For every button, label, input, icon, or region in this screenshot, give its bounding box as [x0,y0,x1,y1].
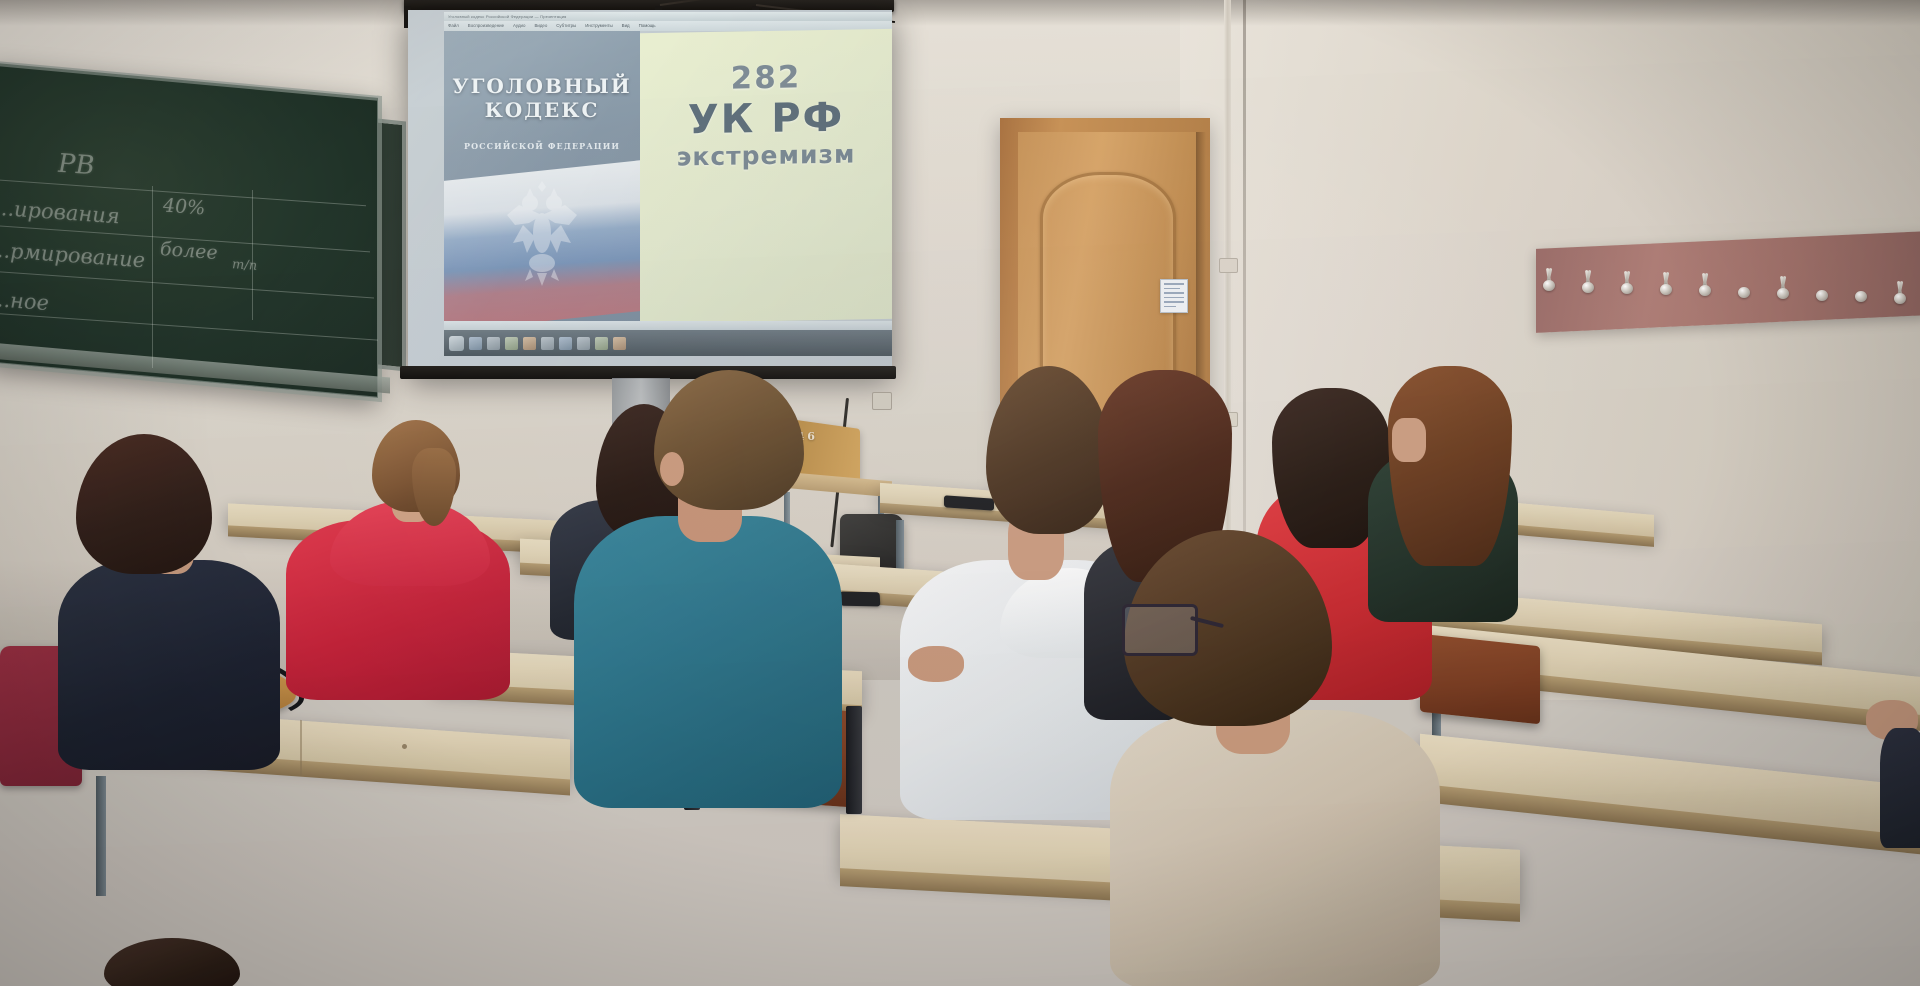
ceiling-shadow [0,0,1920,26]
slide-left-panel: УГОЛОВНЫЙ КОДЕКС РОССИЙСКОЙ ФЕДЕРАЦИИ [444,31,640,321]
os-taskbar[interactable] [444,330,892,356]
coat-hook-6[interactable] [1737,275,1750,299]
app-icon-7[interactable] [577,337,590,350]
criminal-code-title: УГОЛОВНЫЙ КОДЕКС [444,75,640,122]
menu-item-help[interactable]: Помощь [639,23,656,28]
desk-front-left-seam [300,720,302,776]
menu-item-audio[interactable]: Аудио [513,23,525,28]
classroom-photo: РВ ...ирования 40% ...рмирование более .… [0,0,1920,986]
menu-item-video[interactable]: Видео [534,23,547,28]
player-icon[interactable] [505,337,518,350]
desk-front-left-leg [96,776,106,896]
article-number: 282 [731,62,802,94]
student-11-torso [1880,728,1920,848]
presentation-slide: УГОЛОВНЫЙ КОДЕКС РОССИЙСКОЙ ФЕДЕРАЦИИ [444,31,892,321]
topic-label: экстремизм [677,140,856,171]
menu-item-subtitles[interactable]: Субтитры [556,23,576,28]
menu-item-view[interactable]: Вид [622,23,630,28]
desk-screw-1 [402,744,407,749]
coat-hook-7[interactable] [1776,276,1789,300]
app-icon-6[interactable] [559,337,572,350]
student-4-ear [660,452,684,486]
glasses-lens-left [1122,604,1198,656]
pipe-clip-1 [1219,258,1238,273]
coat-hook-5[interactable] [1698,273,1711,297]
student-4-torso [574,516,842,808]
power-outlet [872,392,892,410]
menu-item-file[interactable]: Файл [448,23,459,28]
criminal-code-title-line1: УГОЛОВНЫЙ [444,75,640,99]
app-title-bar: Уголовный кодекс Российской Федерации — … [444,12,892,21]
slide-right-panel: 282 УК РФ экстремизм [640,29,892,323]
coat-hook-1[interactable] [1542,268,1555,292]
student-10-hair [104,938,240,986]
chalk-column-divider-2 [252,190,253,320]
explorer-icon[interactable] [487,337,500,350]
wall-notice-sheet [1160,279,1188,313]
code-abbreviation: УК РФ [688,97,844,142]
coat-hook-8[interactable] [1815,278,1828,302]
coat-hook-10[interactable] [1893,281,1906,305]
app-icon-8[interactable] [595,337,608,350]
coat-hook-2[interactable] [1581,270,1594,294]
app-icon-9[interactable] [613,337,626,350]
chair-back-right[interactable] [1420,634,1540,725]
coat-hook-3[interactable] [1620,271,1633,295]
criminal-code-title-line2: КОДЕКС [444,99,640,123]
coat-hook-4[interactable] [1659,272,1672,296]
app-status-bar [444,321,892,330]
student-1-torso [58,560,280,770]
smartphone-on-desk-mid[interactable] [840,592,881,607]
menu-item-playback[interactable]: Воспроизведение [468,23,504,28]
coat-hook-9[interactable] [1854,279,1867,303]
chair-post-right [846,706,862,814]
criminal-code-subtitle: РОССИЙСКОЙ ФЕДЕРАЦИИ [444,141,640,151]
presentation-icon[interactable] [541,337,554,350]
student-5-hand [908,646,964,682]
menu-item-tools[interactable]: Инструменты [585,23,612,28]
projection-screen: Уголовный кодекс Российской Федерации — … [408,10,892,372]
start-menu-icon[interactable] [449,336,464,351]
double-headed-eagle-icon [499,181,585,291]
browser-icon[interactable] [469,337,482,350]
document-icon[interactable] [523,337,536,350]
student-8-hair [1388,366,1512,566]
chalk-column-divider [152,186,153,368]
student-8-neck [1392,418,1426,462]
